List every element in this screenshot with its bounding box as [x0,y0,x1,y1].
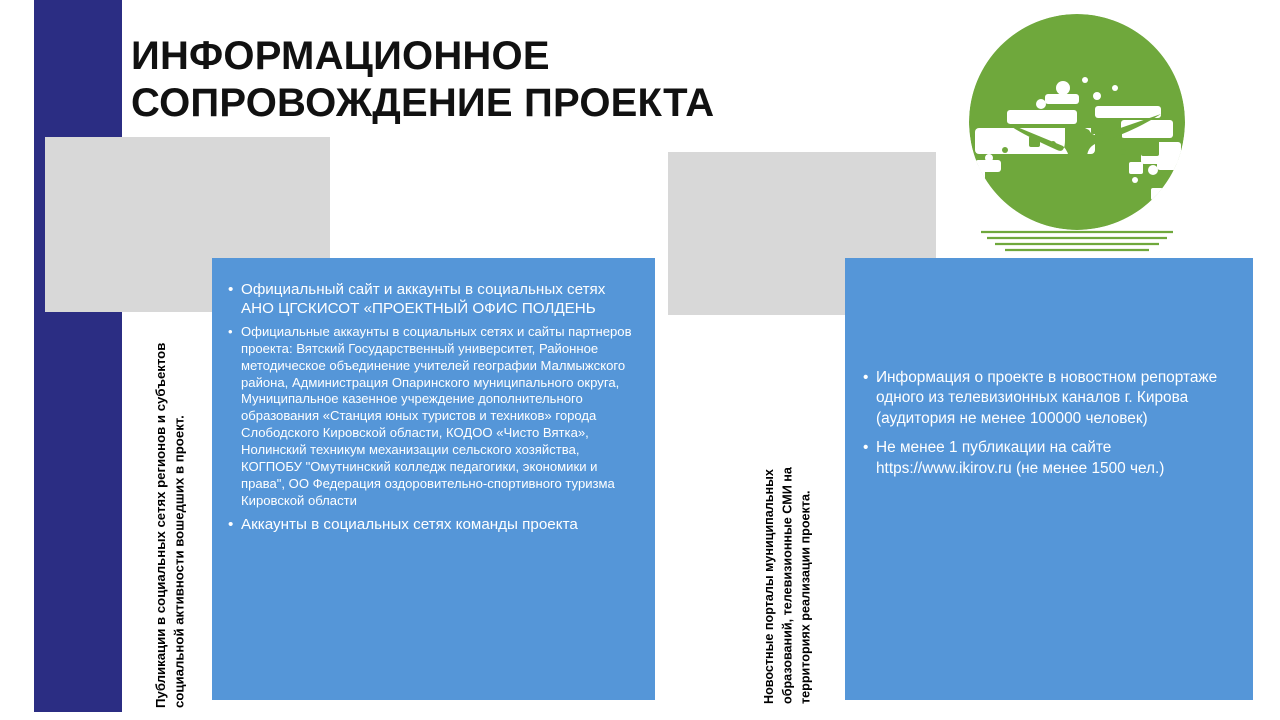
left-bullet-list: Официальный сайт и аккаунты в социальных… [228,280,641,534]
list-item: Официальные аккаунты в социальных сетях … [228,324,641,510]
presentation-slide: ИНФОРМАЦИОННОЕ СОПРОВОЖДЕНИЕ ПРОЕКТА [0,0,1280,720]
left-content-panel: Официальный сайт и аккаунты в социальных… [212,258,655,700]
right-bullet-list: Информация о проекте в новостном репорта… [863,368,1237,479]
list-item: Не менее 1 публикации на сайте https://w… [863,438,1237,479]
green-tree-logo [945,10,1210,260]
right-side-label: Новостные порталы муниципальных образова… [760,388,815,704]
right-content-panel: Информация о проекте в новостном репорта… [845,258,1253,700]
left-side-label: Публикации в социальных сетях регионов и… [152,330,189,708]
page-title: ИНФОРМАЦИОННОЕ СОПРОВОЖДЕНИЕ ПРОЕКТА [131,33,911,127]
navy-accent-bar [34,0,122,712]
list-item: Официальный сайт и аккаунты в социальных… [228,280,641,319]
list-item: Информация о проекте в новостном репорта… [863,368,1237,429]
list-item: Аккаунты в социальных сетях команды прое… [228,515,641,534]
